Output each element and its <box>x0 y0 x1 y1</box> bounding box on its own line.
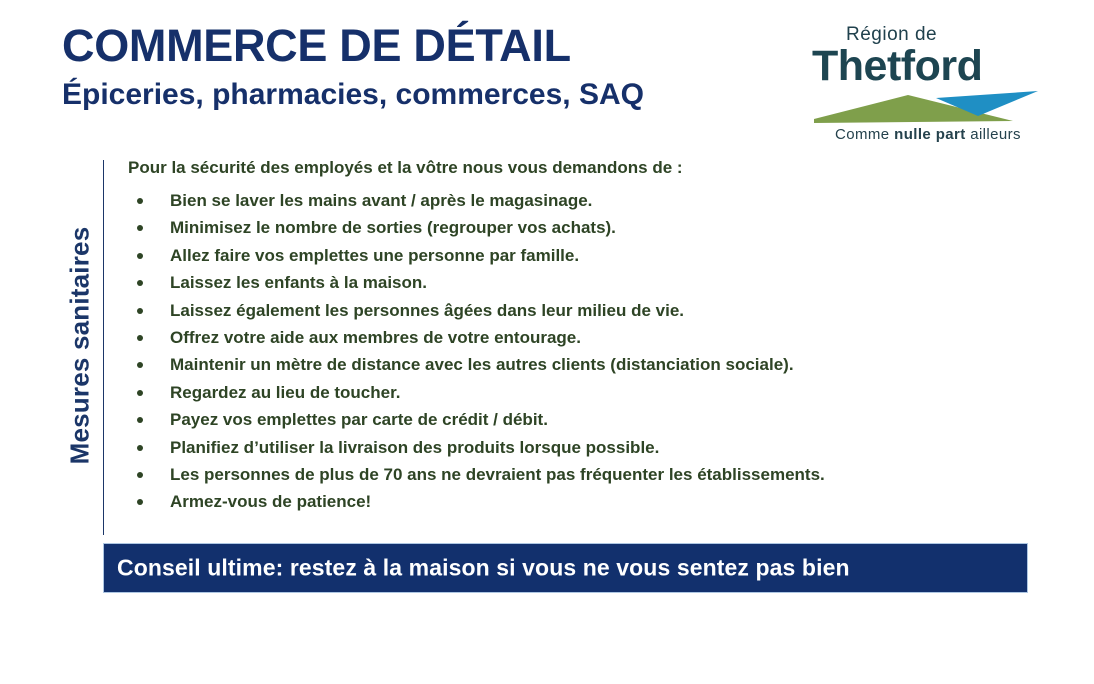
list-item: Laissez les enfants à la maison. <box>128 269 1048 296</box>
list-item: Les personnes de plus de 70 ans ne devra… <box>128 461 1048 488</box>
logo-tagline: Comme nulle part ailleurs <box>818 126 1038 143</box>
tagline-bold: nulle part <box>894 126 966 143</box>
list-item-label: Planifiez d’utiliser la livraison des pr… <box>170 438 659 457</box>
list-item: Payez vos emplettes par carte de crédit … <box>128 406 1048 433</box>
thetford-logo: Région de Thetford Comme nulle part aill… <box>808 22 1038 152</box>
bullet-icon <box>137 499 143 505</box>
footer-banner: Conseil ultime: restez à la maison si vo… <box>103 543 1028 593</box>
list-item-label: Offrez votre aide aux membres de votre e… <box>170 328 581 347</box>
page-subtitle: Épiceries, pharmacies, commerces, SAQ <box>62 78 762 111</box>
list-item-label: Laissez également les personnes âgées da… <box>170 301 684 320</box>
bullet-icon <box>137 225 143 231</box>
list-item: Laissez également les personnes âgées da… <box>128 297 1048 324</box>
list-item: Minimisez le nombre de sorties (regroupe… <box>128 214 1048 241</box>
bullet-icon <box>137 472 143 478</box>
intro-text: Pour la sécurité des employés et la vôtr… <box>128 158 1048 178</box>
list-item-label: Les personnes de plus de 70 ans ne devra… <box>170 465 825 484</box>
bullet-icon <box>137 390 143 396</box>
poster-header: COMMERCE DE DÉTAIL Épiceries, pharmacies… <box>0 0 1094 160</box>
footer-banner-text: Conseil ultime: restez à la maison si vo… <box>117 555 850 582</box>
list-item: Offrez votre aide aux membres de votre e… <box>128 324 1048 351</box>
measures-content: Pour la sécurité des employés et la vôtr… <box>128 158 1048 516</box>
bullet-icon <box>137 308 143 314</box>
measures-list: Bien se laver les mains avant / après le… <box>128 187 1048 516</box>
side-label-mesures-sanitaires: Mesures sanitaires <box>65 156 96 536</box>
list-item: Maintenir un mètre de distance avec les … <box>128 351 1048 378</box>
logo-name-label: Thetford <box>812 42 982 91</box>
bullet-icon <box>137 445 143 451</box>
bullet-icon <box>137 280 143 286</box>
title-block: COMMERCE DE DÉTAIL Épiceries, pharmacies… <box>62 22 762 111</box>
list-item: Bien se laver les mains avant / après le… <box>128 187 1048 214</box>
list-item: Planifiez d’utiliser la livraison des pr… <box>128 434 1048 461</box>
bullet-icon <box>137 253 143 259</box>
list-item-label: Payez vos emplettes par carte de crédit … <box>170 410 548 429</box>
tagline-prefix: Comme <box>835 126 894 143</box>
page-title: COMMERCE DE DÉTAIL <box>62 22 762 71</box>
list-item-label: Maintenir un mètre de distance avec les … <box>170 355 794 374</box>
list-item-label: Laissez les enfants à la maison. <box>170 273 427 292</box>
bullet-icon <box>137 417 143 423</box>
tagline-suffix: ailleurs <box>966 126 1021 143</box>
list-item: Allez faire vos emplettes une personne p… <box>128 242 1048 269</box>
logo-wedges-icon <box>808 90 1038 124</box>
vertical-divider <box>103 160 104 535</box>
bullet-icon <box>137 362 143 368</box>
list-item: Regardez au lieu de toucher. <box>128 379 1048 406</box>
list-item-label: Bien se laver les mains avant / après le… <box>170 191 592 210</box>
list-item-label: Regardez au lieu de toucher. <box>170 383 401 402</box>
list-item-label: Armez-vous de patience! <box>170 492 371 511</box>
list-item-label: Allez faire vos emplettes une personne p… <box>170 246 579 265</box>
bullet-icon <box>137 335 143 341</box>
list-item-label: Minimisez le nombre de sorties (regroupe… <box>170 218 616 237</box>
poster-canvas: COMMERCE DE DÉTAIL Épiceries, pharmacies… <box>0 0 1094 684</box>
bullet-icon <box>137 198 143 204</box>
list-item: Armez-vous de patience! <box>128 488 1048 515</box>
